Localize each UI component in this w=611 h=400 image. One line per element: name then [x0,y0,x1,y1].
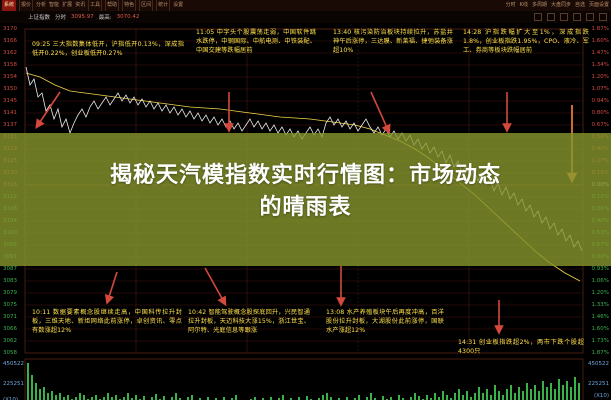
y-left-label-7: 3141 [3,110,17,116]
instrument-name: 上证指数 [28,13,50,21]
annotation-1011: 10:11 数据要素概念股继续走高，中国科传拉升封板，三维天地、新炬网络此前涨停… [32,308,182,336]
high-label: 最高: [99,13,112,21]
crosshair-icon[interactable] [560,13,568,21]
menu-right-2[interactable]: 多周期 [532,0,547,11]
menu-item-11[interactable]: 设置 [173,0,183,11]
annotation-1105: 11:05 中字头个股震荡走弱，中国软件跳水跌停，中钢国际、中航电测、中铁装配、… [196,28,316,56]
y-left-label-1: 3166 [3,38,17,44]
volume-axis-label-mid: 225251 [3,381,24,387]
y-right-label-3: 1.34% [592,62,609,68]
menu-item-4[interactable]: 扩展 [62,0,72,11]
menu-item-5[interactable]: 资讯 [75,0,85,11]
last-price: 3095.97 [71,14,94,20]
y-right-label-2: 1.47% [592,50,609,56]
y-left-label-0: 3170 [3,26,17,32]
menu-right-0[interactable]: 分时 [506,0,516,11]
y-right-label-8: 0.67% [592,122,609,128]
y-right-label-20: 0.93% [592,266,609,272]
y-left-label-8: 3137 [3,122,17,128]
y-left-label-2: 3162 [3,50,17,56]
high-value: 3070.42 [117,14,140,20]
y-left-label-20: 3087 [3,266,17,272]
annotation-1042: 10:42 智能驾驶概念股探底回升，兴民智通拉升封板，天迈科技大涨15%，浙江世… [188,308,310,336]
y-left-label-25: 3066 [3,326,17,332]
menu-item-3[interactable]: 智能 [49,0,59,11]
menu-right-4[interactable]: 自选 [575,0,585,11]
volume-axis-label-max: 450522 [3,361,24,367]
annotation-0925: 09:25 三大指数集体低开，沪指低开0.13%，深成指低开0.22%，创业板低… [32,40,184,58]
y-right-label-26: 1.73% [592,338,609,344]
menu-right-1[interactable]: K线 [520,0,528,11]
annotation-1428: 14:28 沪指跌幅扩大至1%，深成指跌1.8%，创业板指跌1.95%，CPO、… [463,28,589,56]
minimize-icon[interactable] [586,13,594,21]
y-left-label-4: 3154 [3,74,17,80]
annotation-1431: 14:31 创业板指跌超2%，两市下跌个股超4300只 [458,338,584,356]
annotation-1340: 13:40 核污染防治板块持续拉升，苏盐井神午后涨停，三达膜、新莱福、捷弛装备涨… [333,28,453,56]
volume-right-label-unit: (X10) [594,393,609,399]
magnify-icon[interactable] [547,13,555,21]
y-left-label-6: 3145 [3,98,17,104]
y-left-label-3: 3158 [3,62,17,68]
y-right-label-1: 1.60% [592,38,609,44]
y-right-label-6: 0.94% [592,98,609,104]
menu-item-0[interactable]: 系统 [2,0,16,11]
y-right-label-22: 1.20% [592,290,609,296]
grid-icon[interactable] [573,13,581,21]
period-label: 分时 [55,13,66,21]
clock-icon[interactable] [534,13,542,21]
volume-bars [27,363,580,400]
y-right-label-0: 1.87% [592,26,609,32]
y-right-label-27: 1.87% [592,350,609,356]
volume-right-label-max: 450522 [588,361,609,367]
toolbar-icons[interactable] [534,13,611,21]
y-right-label-7: 0.80% [592,110,609,116]
y-right-label-21: 1.06% [592,278,609,284]
menu-bar[interactable]: 系统 报价 分析 智能 扩展 资讯 工具 帮助 特色 区间 统计 设置 分时 K… [0,0,611,11]
menu-right-5[interactable]: 页面设置 [589,0,609,11]
annotation-1308: 13:08 水产养殖板块午后再度冲高，百洋股份拉升封板，大湖股份此前涨停，国联水… [326,308,444,336]
y-left-label-21: 3083 [3,278,17,284]
y-left-label-27: 3058 [3,350,17,356]
stock-chart-screenshot: 系统 报价 分析 智能 扩展 资讯 工具 帮助 特色 区间 统计 设置 分时 K… [0,0,611,400]
menu-right-3[interactable]: 大盘同步 [551,0,571,11]
y-right-label-23: 1.33% [592,302,609,308]
close-icon[interactable] [599,13,607,21]
y-right-label-4: 1.20% [592,74,609,80]
menu-item-2[interactable]: 分析 [36,0,46,11]
y-left-label-26: 3062 [3,338,17,344]
y-right-label-24: 1.46% [592,314,609,320]
y-left-label-24: 3071 [3,314,17,320]
y-left-label-23: 3075 [3,302,17,308]
page-title: 揭秘天汽模指数实时行情图：市场动态 的晴雨表 [0,160,611,224]
quote-header-bar: 上证指数 分时 3095.97 最高: 3070.42 [0,11,611,23]
y-right-label-25: 1.60% [592,326,609,332]
page-title-line-2: 的晴雨表 [0,192,611,224]
y-right-label-5: 1.07% [592,86,609,92]
volume-right-label-mid: 225251 [588,381,609,387]
y-left-label-5: 3150 [3,86,17,92]
y-left-label-22: 3079 [3,290,17,296]
page-title-line-1: 揭秘天汽模指数实时行情图：市场动态 [110,163,501,188]
